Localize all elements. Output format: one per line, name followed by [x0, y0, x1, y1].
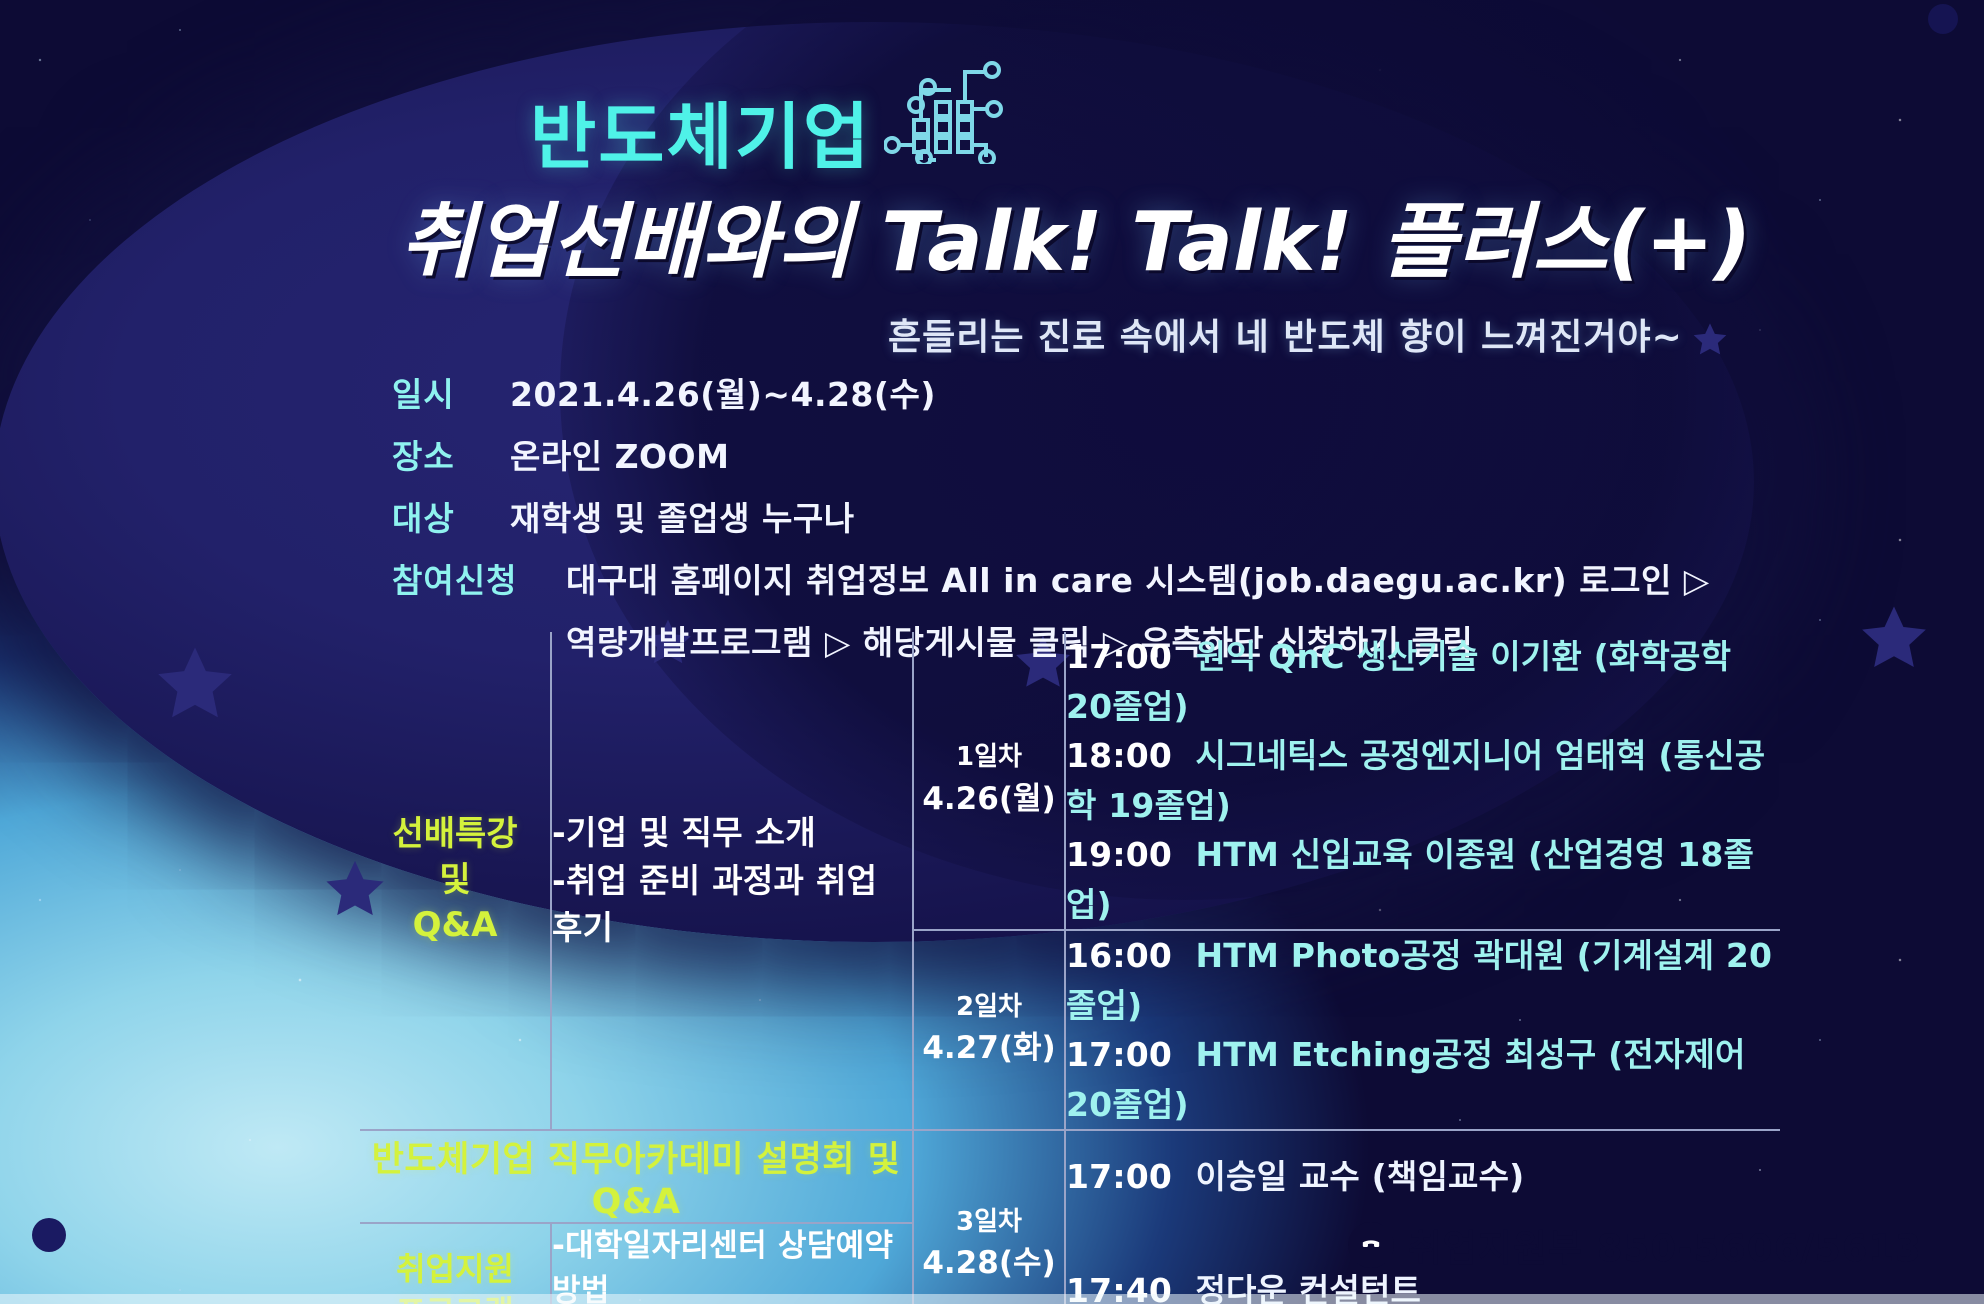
session-row-2-2: 17:00 HTM Etching공정 최성구 (전자제어 20졸업): [1065, 1030, 1780, 1130]
description-cell-senior-talk: -기업 및 직무 소개 -취업 준비 과정과 취업 후기: [551, 632, 913, 1130]
info-row-place: 장소 온라인 ZOOM: [392, 430, 1792, 478]
schedule-table: 선배특강 및 Q&A -기업 및 직무 소개 -취업 준비 과정과 취업 후기 …: [360, 632, 1780, 1304]
info-value-apply: 대구대 홈페이지 취업정보 All in care 시스템(job.daegu.…: [566, 554, 1710, 602]
banner-cell-job-academy: 반도체기업 직무아카데미 설명회 및 Q&A: [360, 1130, 913, 1223]
session-row-2-1: 16:00 HTM Photo공정 곽대원 (기계설계 20졸업): [1065, 930, 1780, 1030]
info-value-date: 2021.4.26(월)~4.28(수): [510, 368, 936, 416]
day-cell-2: 2일차 4.27(화): [913, 930, 1065, 1130]
category-cell-employment-support: 취업지원 프로그램: [360, 1223, 551, 1304]
info-row-audience: 대상 재학생 및 졸업생 누구나: [392, 492, 1792, 540]
description-line: -대학일자리센터 상담예약 방법: [552, 1224, 912, 1304]
session-time: 16:00: [1066, 936, 1172, 975]
info-row-date: 일시 2021.4.26(월)~4.28(수): [392, 368, 1792, 416]
session-row-1-2: 18:00 시그네틱스 공정엔지니어 엄태혁 (통신공학 19졸업): [1065, 731, 1780, 830]
session-time: 19:00: [1066, 835, 1172, 874]
category-line: 취업지원: [360, 1248, 550, 1291]
day-date: 4.28(수): [914, 1241, 1064, 1286]
session-row-1-1: 17:00 원익 QnC 생산기술 이기환 (화학공학 20졸업): [1065, 632, 1780, 731]
decorative-dot-top-right: [1928, 4, 1958, 34]
poster-root: 반도체기업 취업선배와의 Talk! Talk! 플러스(+: [0, 0, 1984, 1304]
category-cell-senior-talk: 선배특강 및 Q&A: [360, 632, 551, 1130]
info-value-audience: 재학생 및 졸업생 누구나: [510, 492, 855, 540]
session-row-3-1: 17:00 이승일 교수 (책임교수): [1065, 1130, 1780, 1223]
info-row-apply: 참여신청 대구대 홈페이지 취업정보 All in care 시스템(job.d…: [392, 554, 1792, 602]
day-date: 4.27(화): [914, 1026, 1064, 1071]
day-date: 4.26(월): [914, 777, 1064, 822]
session-time: 18:00: [1066, 736, 1172, 775]
decorative-star: [150, 640, 240, 730]
event-info-block: 일시 2021.4.26(월)~4.28(수) 장소 온라인 ZOOM 대상 재…: [392, 368, 1792, 664]
day-number: 2일차: [914, 989, 1064, 1027]
info-label-date: 일시: [392, 368, 510, 416]
description-line: -기업 및 직무 소개: [552, 809, 912, 857]
page-title: 취업선배와의 Talk! Talk! 플러스(+): [400, 175, 1751, 294]
session-time: 17:00: [1066, 1157, 1172, 1196]
category-line: 선배특강: [360, 812, 550, 858]
day-number: 3일차: [914, 1204, 1064, 1242]
session-time: 17:00: [1066, 637, 1172, 676]
description-line: -취업 준비 과정과 취업 후기: [552, 857, 912, 953]
bottom-light-bar: [0, 1294, 1984, 1304]
decorative-dot-bottom-left: [32, 1218, 66, 1252]
footer-phone-text: 취업지원부 850-5606/5613: [1408, 1218, 1922, 1272]
table-row: 반도체기업 직무아카데미 설명회 및 Q&A 3일차 4.28(수) 17:00…: [360, 1130, 1780, 1223]
decorative-star: [1690, 320, 1730, 360]
circuit-board-icon: [884, 58, 1004, 164]
session-row-1-3: 19:00 HTM 신입교육 이종원 (산업경영 18졸업): [1065, 830, 1780, 930]
description-cell-employment-support: -대학일자리센터 상담예약 방법 -청년고용정책 안내: [551, 1223, 913, 1304]
session-time: 17:00: [1066, 1035, 1172, 1074]
day-number: 1일차: [914, 739, 1064, 777]
category-line: Q&A: [360, 903, 550, 949]
info-label-place: 장소: [392, 430, 510, 478]
kicker-title: 반도체기업: [530, 78, 871, 183]
session-title: 이승일 교수 (책임교수): [1195, 1157, 1524, 1196]
phone-icon: [1348, 1222, 1394, 1268]
info-label-audience: 대상: [392, 492, 510, 540]
category-line: 및: [360, 858, 550, 904]
day-cell-3: 3일차 4.28(수): [913, 1130, 1065, 1304]
info-label-apply: 참여신청: [392, 554, 566, 602]
session-title: HTM Photo공정 곽대원 (기계설계 20졸업): [1066, 936, 1772, 1025]
decorative-star: [1855, 600, 1933, 678]
info-value-place: 온라인 ZOOM: [510, 430, 729, 478]
table-row: 선배특강 및 Q&A -기업 및 직무 소개 -취업 준비 과정과 취업 후기 …: [360, 632, 1780, 731]
day-cell-1: 1일차 4.26(월): [913, 632, 1065, 930]
tagline: 흔들리는 진로 속에서 네 반도체 향이 느껴진거야~: [888, 308, 1683, 360]
footer-contact: 취업지원부 850-5606/5613: [1348, 1218, 1922, 1272]
